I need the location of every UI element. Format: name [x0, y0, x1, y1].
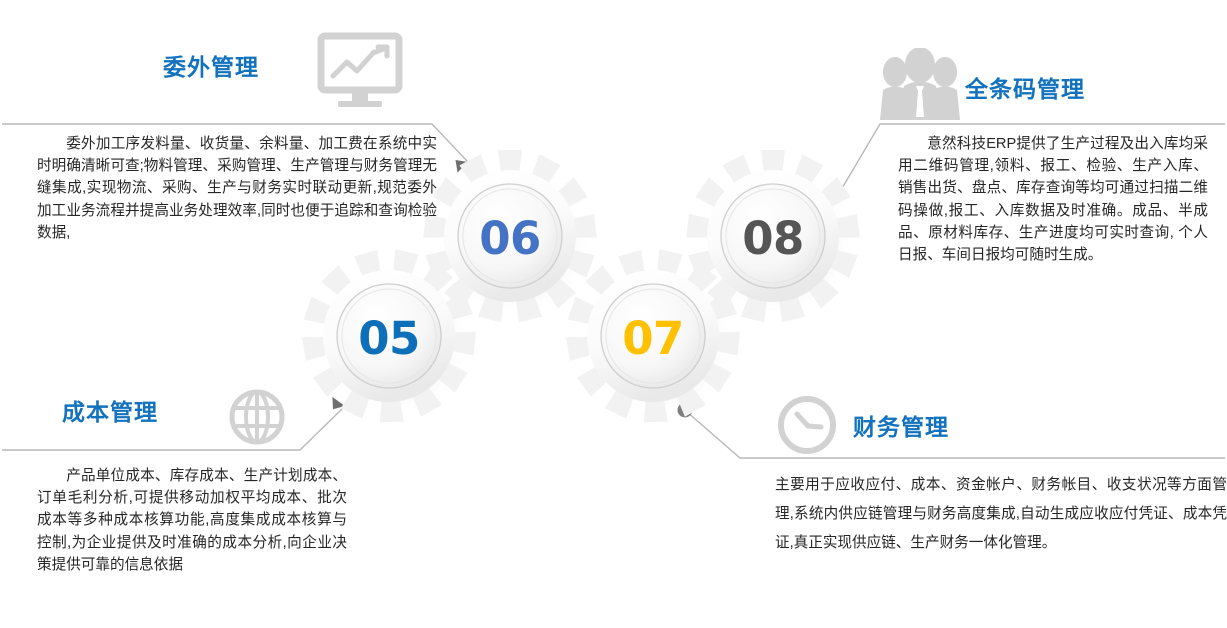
text-barcode-management: 意然科技ERP提供了生产过程及出入库均采用二维码管理,领料、报工、检验、生产入库… [898, 133, 1208, 266]
clock-icon [776, 394, 838, 456]
gear-07[interactable]: 07 [565, 248, 745, 428]
globe-icon [228, 388, 286, 446]
title-outsourcing-management: 委外管理 [163, 48, 259, 82]
text-outsourcing-management: 委外加工序发料量、收货量、余料量、加工费在系统中实时明确清晰可查;物料管理、采购… [37, 133, 437, 244]
title-finance-management: 财务管理 [853, 408, 949, 442]
title-cost-management: 成本管理 [62, 393, 158, 427]
text-cost-management: 产品单位成本、库存成本、生产计划成本、订单毛利分析,可提供移动加权平均成本、批次… [37, 465, 347, 576]
people-group-icon [875, 48, 965, 123]
title-barcode-management: 全条码管理 [965, 70, 1085, 104]
text-finance-management: 主要用于应收应付、成本、资金帐户、财务帐目、收支状况等方面管理,系统内供应链管理… [775, 471, 1227, 559]
monitor-chart-icon [316, 32, 404, 112]
infographic-canvas: 06 [0, 0, 1227, 628]
gear-05[interactable]: 05 [301, 248, 481, 428]
